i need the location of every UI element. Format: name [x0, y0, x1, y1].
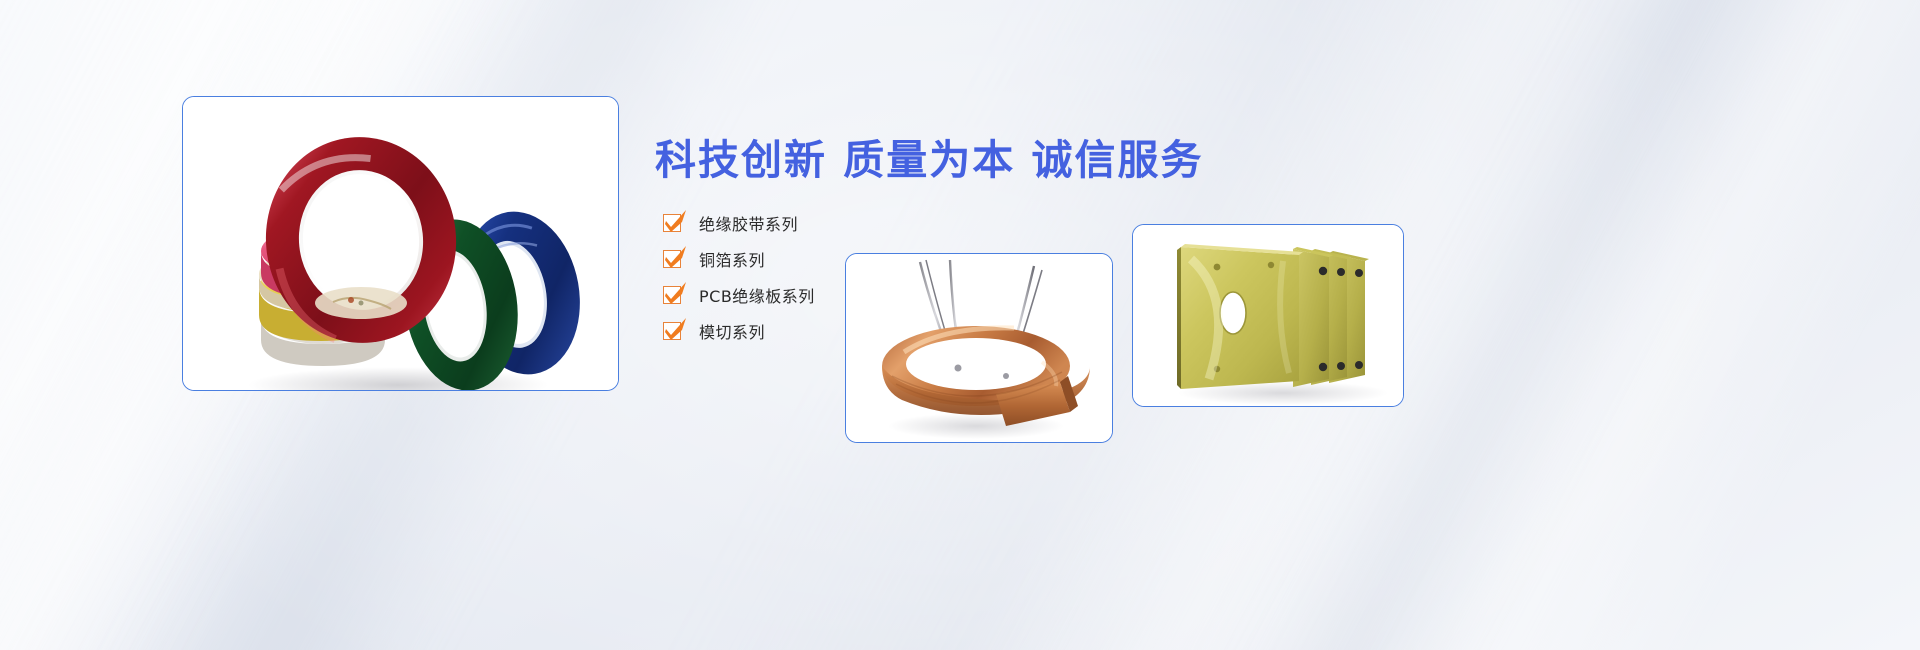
- checkbox-checked-icon: [663, 214, 681, 232]
- pcb-board-photo: [1133, 225, 1403, 406]
- list-item[interactable]: 模切系列: [663, 313, 815, 349]
- list-item[interactable]: 铜箔系列: [663, 241, 815, 277]
- copper-foil-photo: [846, 254, 1112, 442]
- list-item[interactable]: 绝缘胶带系列: [663, 205, 815, 241]
- list-item-label: 绝缘胶带系列: [699, 211, 798, 235]
- list-item-label: 铜箔系列: [699, 247, 765, 271]
- checkbox-checked-icon: [663, 250, 681, 268]
- pcb-board-card[interactable]: [1132, 224, 1404, 407]
- checkbox-checked-icon: [663, 322, 681, 340]
- list-item[interactable]: PCB绝缘板系列: [663, 277, 815, 313]
- checkbox-checked-icon: [663, 286, 681, 304]
- list-item-label: 模切系列: [699, 319, 765, 343]
- copper-foil-card[interactable]: [845, 253, 1113, 443]
- list-item-label: PCB绝缘板系列: [699, 283, 815, 307]
- page-title: 科技创新 质量为本 诚信服务: [655, 126, 1204, 186]
- insulation-tape-card[interactable]: [182, 96, 619, 391]
- promo-banner: 科技创新 质量为本 诚信服务 绝缘胶带系列 铜箔系列: [0, 0, 1920, 650]
- insulation-tape-photo: [183, 97, 618, 390]
- product-series-list: 绝缘胶带系列 铜箔系列 PCB绝缘板系列: [663, 205, 815, 349]
